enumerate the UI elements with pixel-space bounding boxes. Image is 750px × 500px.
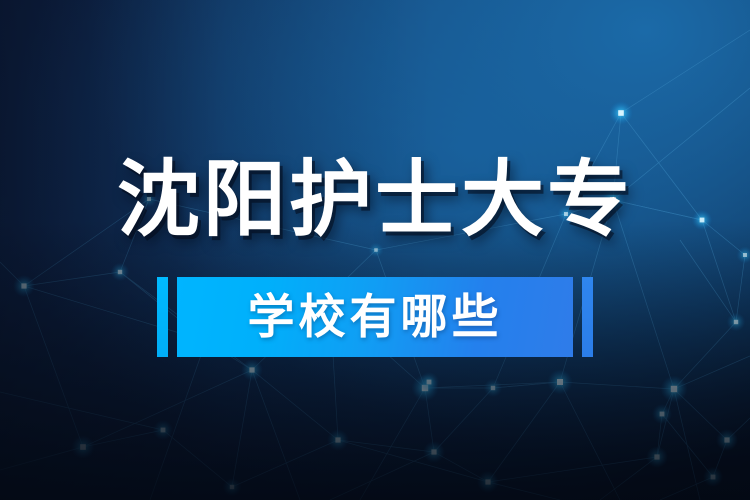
page-subtitle: 学校有哪些 (248, 294, 503, 341)
subtitle-plate: 学校有哪些 (177, 277, 573, 357)
background-bottom-vignette (0, 0, 750, 500)
left-accent-bar (157, 277, 168, 357)
right-accent-gap (573, 277, 582, 357)
subtitle-banner: 学校有哪些 (157, 277, 593, 357)
headline-container: 沈阳护士大专 (0, 158, 750, 241)
page-title: 沈阳护士大专 (117, 158, 633, 241)
promo-banner: 沈阳护士大专 学校有哪些 (0, 0, 750, 500)
right-accent-bar (582, 277, 593, 357)
left-accent-gap (168, 277, 177, 357)
